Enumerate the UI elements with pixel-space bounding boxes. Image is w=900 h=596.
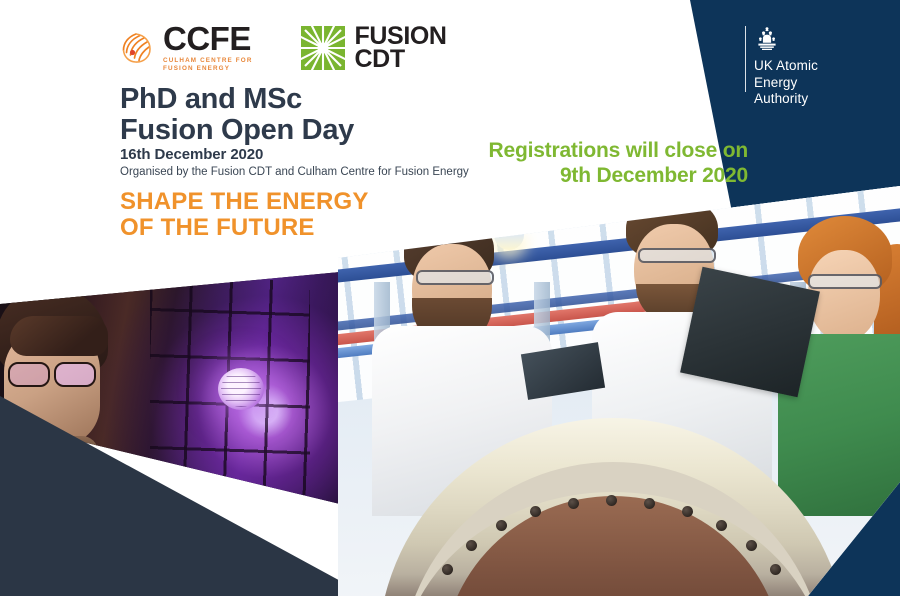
student-fringe (10, 316, 108, 356)
page-title: PhD and MSc Fusion Open Day (120, 84, 354, 146)
ccfe-wordmark: CCFE (163, 22, 253, 55)
ukaea-wordmark: UK Atomic Energy Authority (754, 58, 818, 108)
ccfe-logo[interactable]: CCFE CULHAM CENTRE FOR FUSION ENERGY (120, 22, 253, 73)
plasma-globe-icon (218, 368, 264, 410)
royal-crest-icon (754, 26, 780, 52)
vacuum-vessel (378, 418, 848, 596)
fusion-starburst-icon (301, 26, 345, 70)
registration-notice: Registrations will close on 9th December… (400, 138, 748, 188)
ukaea-divider-rule (745, 26, 746, 92)
event-date: 16th December 2020 (120, 146, 263, 163)
ccfe-subtitle: CULHAM CENTRE FOR FUSION ENERGY (163, 57, 253, 73)
student-glasses-icon (8, 362, 104, 384)
safety-goggles-icon (638, 248, 716, 263)
partner-logos: CCFE CULHAM CENTRE FOR FUSION ENERGY (120, 22, 447, 73)
fusion-cdt-logo[interactable]: FUSION CDT (301, 25, 447, 71)
fusion-open-day-banner: CCFE CULHAM CENTRE FOR FUSION ENERGY (0, 0, 900, 596)
three-researchers-with-vacuum-vessel-photo (338, 186, 900, 596)
tagline: SHAPE THE ENERGY OF THE FUTURE (120, 189, 369, 241)
ukaea-logo[interactable]: UK Atomic Energy Authority (745, 26, 818, 108)
safety-goggles-icon (808, 274, 882, 289)
fusion-cdt-wordmark: FUSION CDT (355, 25, 447, 71)
safety-goggles-icon (416, 270, 494, 285)
ukaea-logo-body: UK Atomic Energy Authority (754, 26, 818, 108)
vessel-bolt-holes (378, 418, 848, 596)
ccfe-wordmark-block: CCFE CULHAM CENTRE FOR FUSION ENERGY (163, 22, 253, 73)
ccfe-flame-icon (120, 31, 154, 65)
